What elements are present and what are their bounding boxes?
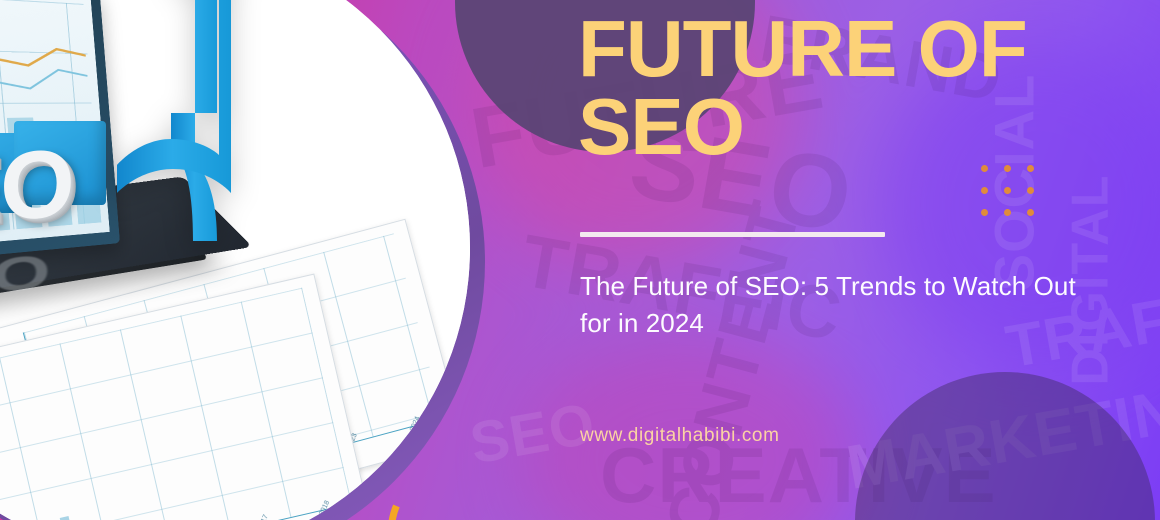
headline-line-1: FUTURE OF bbox=[578, 10, 1138, 88]
dot bbox=[1004, 187, 1011, 194]
page-title: FUTURE OF SEO bbox=[578, 10, 1138, 165]
dot bbox=[981, 187, 988, 194]
dot bbox=[981, 165, 988, 172]
subheadline: The Future of SEO: 5 Trends to Watch Out… bbox=[580, 268, 1080, 342]
title-divider bbox=[580, 232, 885, 237]
dot bbox=[1027, 187, 1034, 194]
dot bbox=[1027, 165, 1034, 172]
dot bbox=[1027, 209, 1034, 216]
seo-word: SEO bbox=[0, 128, 73, 252]
website-url[interactable]: www.digitalhabibi.com bbox=[580, 425, 780, 447]
headline-line-2: SEO bbox=[578, 88, 1138, 166]
hero-photo: 2019 2020 2021 2022 2023 2024 2013 2014 bbox=[0, 0, 470, 520]
dot bbox=[1004, 165, 1011, 172]
seo-word-reflection: SEO bbox=[0, 243, 49, 313]
chart-paper-front: 2013 2014 2015 2016 2017 2018 bbox=[0, 274, 373, 520]
dot bbox=[1004, 209, 1011, 216]
seo-3d-text: SEO SEO bbox=[0, 113, 140, 263]
dot-grid-decoration bbox=[981, 165, 1050, 231]
seo-blog-banner: FUTURE SEO SOCIAL DIGITAL TRAFFIC TRAFFI… bbox=[0, 0, 1160, 520]
dot bbox=[981, 209, 988, 216]
